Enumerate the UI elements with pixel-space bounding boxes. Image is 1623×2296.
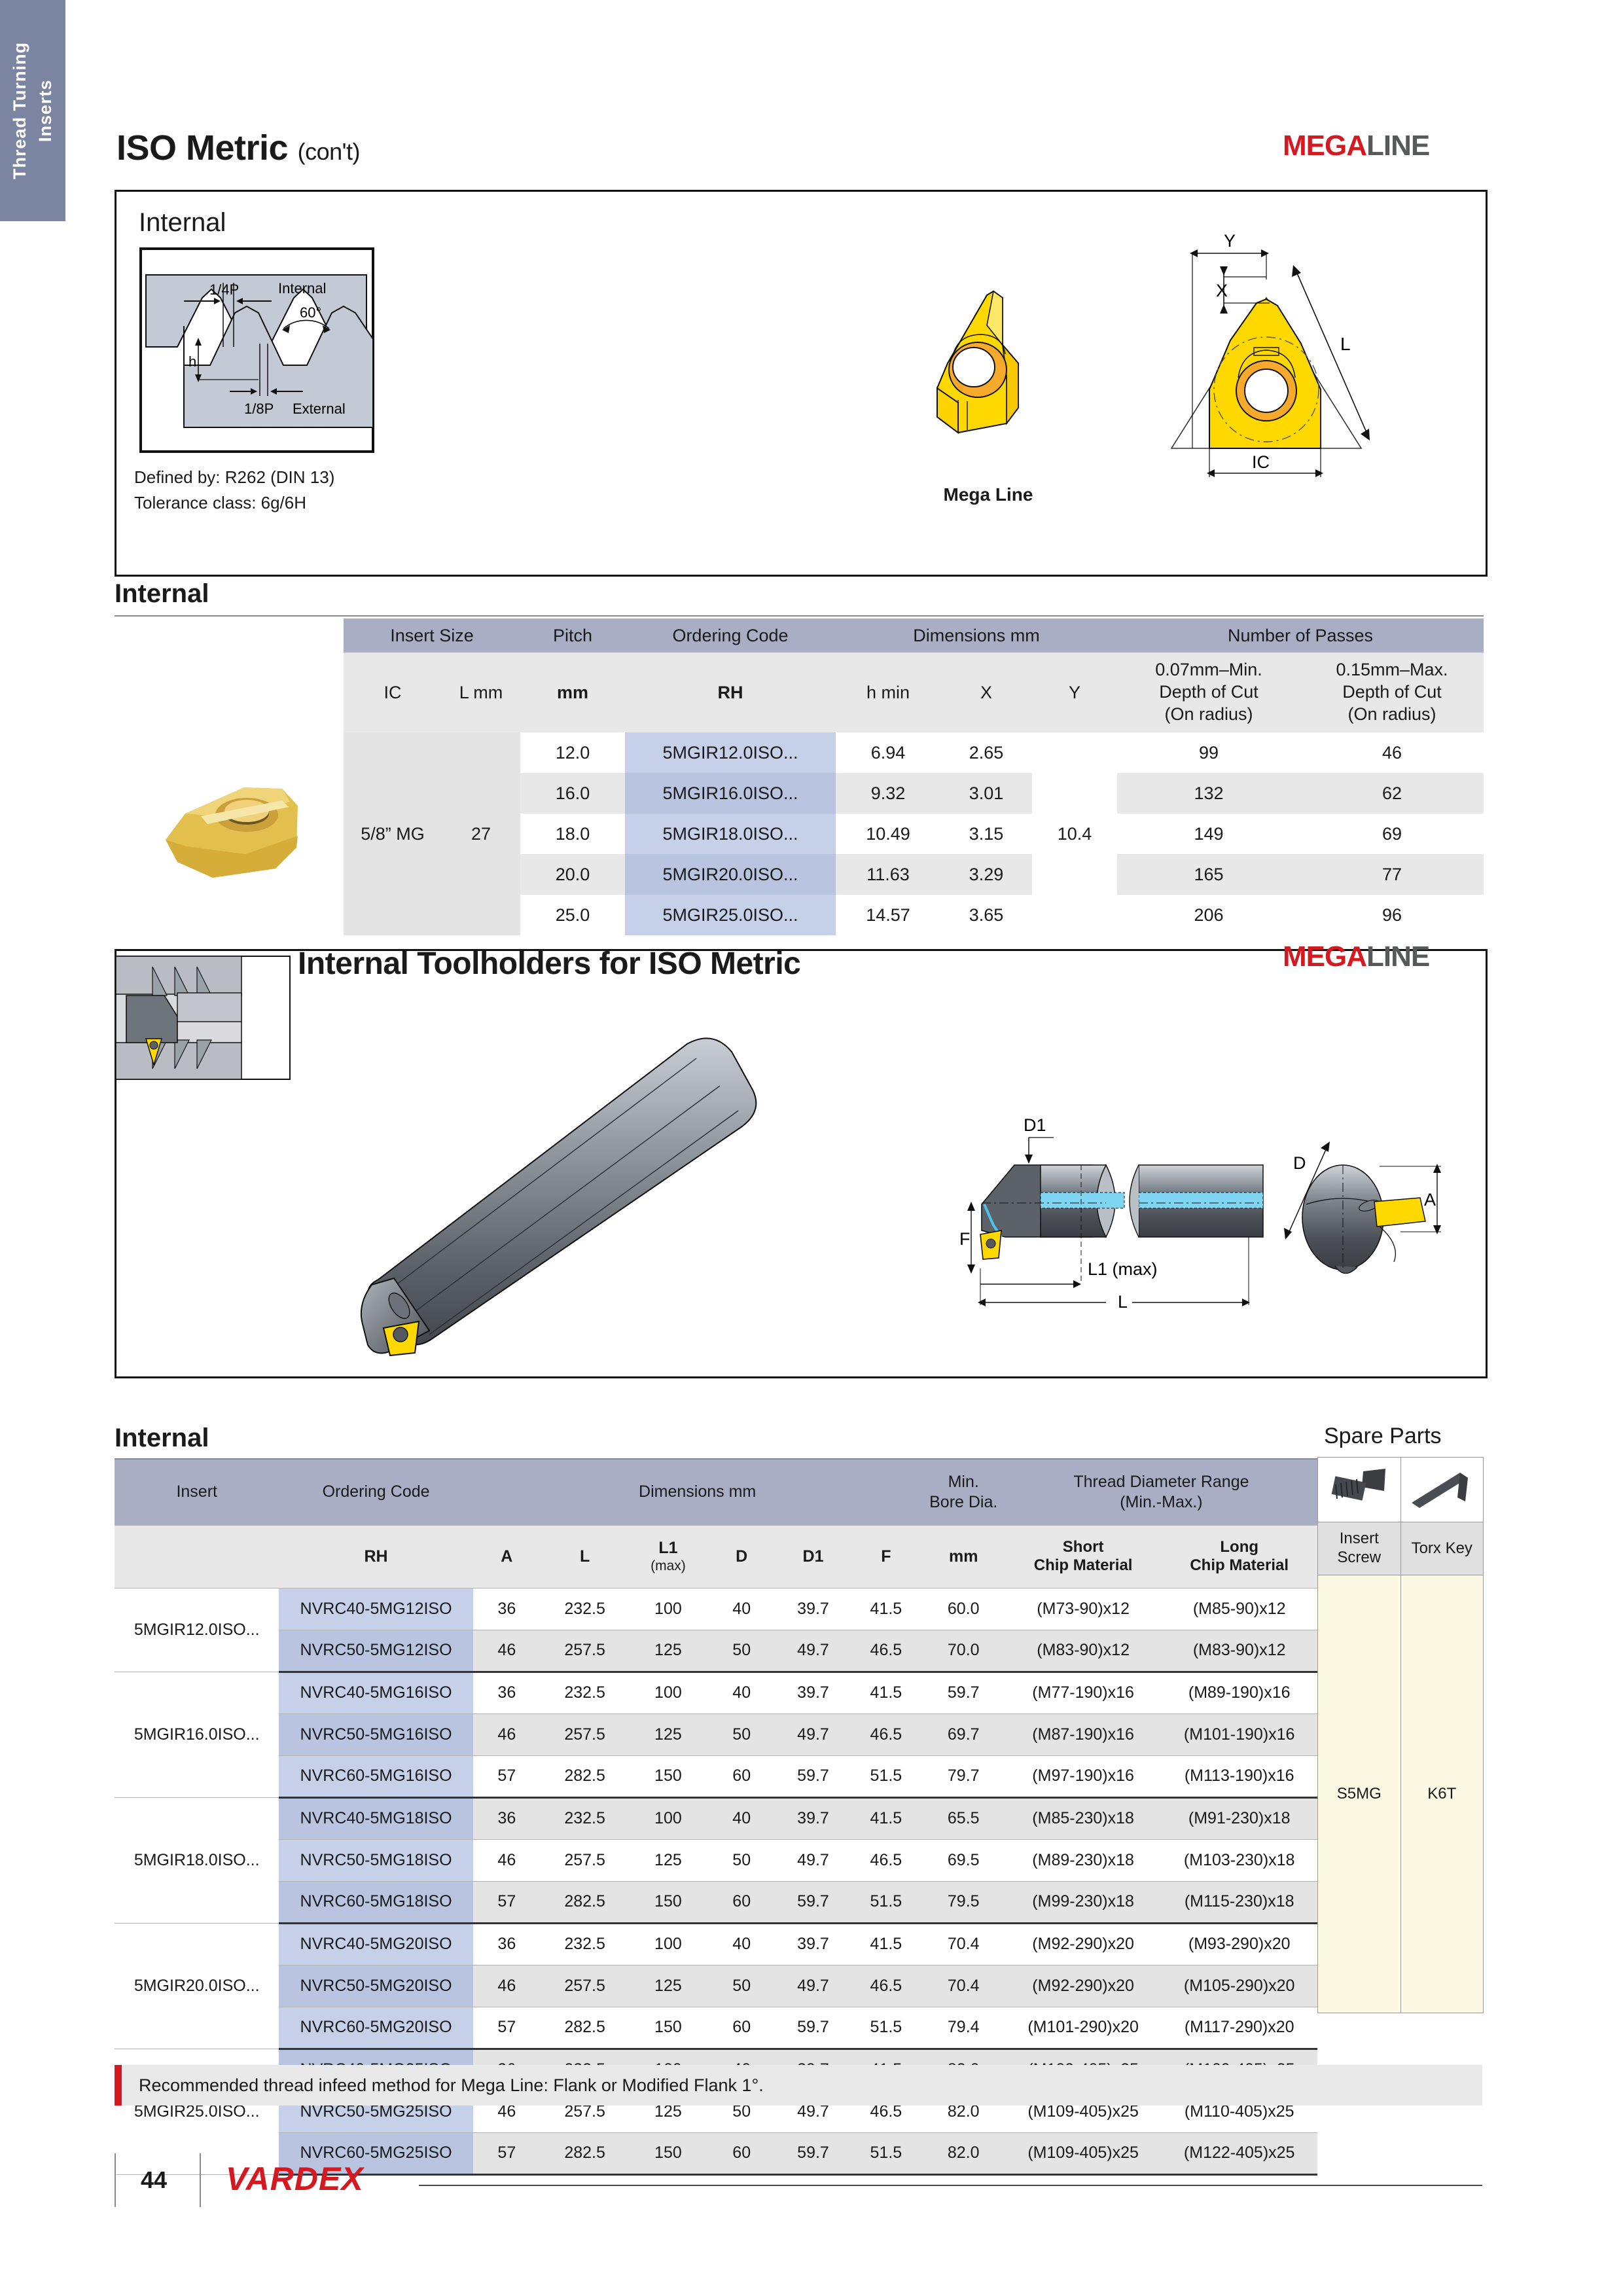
holder-cell-mm: 79.5	[922, 1881, 1005, 1923]
holder-table-row: 5MGIR12.0ISO...NVRC40-5MG12ISO36232.5100…	[115, 1588, 1317, 1630]
holder-cell-f: 41.5	[850, 1923, 921, 1965]
holder-cell-mm: 82.0	[922, 2132, 1005, 2174]
insert-cell-passes-max: 96	[1300, 895, 1484, 935]
holder-cell-f: 41.5	[850, 1797, 921, 1839]
footer-line	[419, 2185, 1482, 2186]
holder-cell-mm: 70.4	[922, 1923, 1005, 1965]
insert-table-sub-header-row: IC L mm mm RH h min X Y 0.07mm–Min. Dept…	[344, 653, 1484, 732]
holder-cell-l1: 150	[629, 1881, 707, 1923]
holder-cell-short-chip: (M77-190)x16	[1005, 1672, 1162, 1713]
megaline-logo-top: MEGALINE	[1283, 130, 1429, 162]
holder-cell-d1: 49.7	[776, 1965, 850, 2007]
page-title: ISO Metric (con't)	[116, 128, 360, 168]
dim-label-x: X	[1216, 281, 1228, 300]
holder-cell-l1: 100	[629, 1923, 707, 1965]
holder-cell-insert: 5MGIR20.0ISO...	[115, 1923, 279, 2049]
holder-cell-d1: 49.7	[776, 1630, 850, 1672]
thread-label-h: h	[188, 353, 196, 370]
holder-cell-f: 51.5	[850, 1881, 921, 1923]
insert-cell-passes-max: 77	[1300, 854, 1484, 895]
insert-table-row: 5/8” MG2712.05MGIR12.0ISO...6.942.6510.4…	[344, 732, 1484, 773]
dim-label-l1max: L1 (max)	[1088, 1259, 1158, 1279]
holder-cell-insert: 5MGIR16.0ISO...	[115, 1672, 279, 1797]
insert-th-x: X	[940, 653, 1032, 732]
holder-cell-d: 60	[707, 1881, 776, 1923]
insert-dimension-drawing: Y X L IC	[1132, 226, 1440, 488]
insert-cell-code[interactable]: 5MGIR25.0ISO...	[625, 895, 836, 935]
holder-th-f: F	[850, 1525, 921, 1588]
holder-th-l1-main: L1	[658, 1539, 677, 1557]
insert-cell-passes-min: 165	[1117, 854, 1300, 895]
insert-cell-hmin: 6.94	[836, 732, 940, 773]
holder-th-a: A	[473, 1525, 541, 1588]
spare-parts-table: Insert Screw Torx Key S5MG K6T	[1317, 1457, 1484, 2013]
screw-icon	[1323, 1462, 1396, 1513]
holder-cell-d1: 59.7	[776, 1881, 850, 1923]
insert-cell-x: 3.15	[940, 814, 1032, 854]
holder-cell-d: 60	[707, 1755, 776, 1797]
holder-cell-code[interactable]: NVRC40-5MG16ISO	[279, 1672, 473, 1713]
holder-cell-a: 36	[473, 1672, 541, 1713]
holder-group-header-row: Insert Ordering Code Dimensions mm Min. …	[115, 1460, 1317, 1525]
holder-cell-l: 232.5	[541, 1588, 629, 1630]
dim-label-d1: D1	[1024, 1115, 1046, 1135]
holder-cell-mm: 79.4	[922, 2007, 1005, 2049]
holder-cell-short-chip: (M92-290)x20	[1005, 1965, 1162, 2007]
holder-th-l1-sub: (max)	[651, 1558, 686, 1573]
insert-th-dimensions: Dimensions mm	[836, 619, 1117, 653]
holder-cell-short-chip: (M73-90)x12	[1005, 1588, 1162, 1630]
holder-cell-code[interactable]: NVRC60-5MG18ISO	[279, 1881, 473, 1923]
holder-th-d: D	[707, 1525, 776, 1588]
holder-cell-f: 46.5	[850, 1839, 921, 1881]
insert-screw-icon-cell	[1318, 1458, 1401, 1522]
insert-screw-value: S5MG	[1318, 1575, 1401, 2013]
megaline-line-text-2: LINE	[1366, 941, 1429, 973]
holder-cell-a: 46	[473, 1839, 541, 1881]
holder-cell-d: 50	[707, 1839, 776, 1881]
holder-cell-l: 232.5	[541, 1797, 629, 1839]
insert-th-passes-min: 0.07mm–Min. Depth of Cut (On radius)	[1117, 653, 1300, 732]
holder-cell-mm: 69.7	[922, 1713, 1005, 1755]
section-tab: Thread Turning Inserts	[0, 0, 65, 221]
insert-th-rh: RH	[625, 653, 836, 732]
holder-table-heading: Internal	[115, 1424, 209, 1453]
thread-standard-text: Defined by: R262 (DIN 13) Tolerance clas…	[134, 465, 334, 516]
holder-cell-f: 46.5	[850, 1630, 921, 1672]
insert-th-number-of-passes: Number of Passes	[1117, 619, 1484, 653]
holder-cell-short-chip: (M89-230)x18	[1005, 1839, 1162, 1881]
megaline-mega-text: MEGA	[1283, 130, 1366, 162]
torx-key-icon	[1405, 1462, 1478, 1513]
holder-cell-d1: 59.7	[776, 2007, 850, 2049]
holder-cell-d: 40	[707, 1797, 776, 1839]
insert-cell-x: 3.01	[940, 773, 1032, 814]
internal-figure-heading: Internal	[139, 208, 226, 238]
holder-cell-short-chip: (M92-290)x20	[1005, 1923, 1162, 1965]
holder-cell-d1: 49.7	[776, 1713, 850, 1755]
insert-cell-passes-min: 206	[1117, 895, 1300, 935]
thread-label-external: External	[293, 401, 346, 417]
holder-cell-l: 282.5	[541, 2007, 629, 2049]
holder-cell-d1: 39.7	[776, 1588, 850, 1630]
vardex-logo: VARDEX	[226, 2160, 364, 2198]
defined-by-text: Defined by: R262 (DIN 13)	[134, 465, 334, 490]
holder-cell-insert: 5MGIR12.0ISO...	[115, 1588, 279, 1672]
holder-cell-d1: 39.7	[776, 1923, 850, 1965]
holder-cell-a: 36	[473, 1797, 541, 1839]
holder-cell-d1: 59.7	[776, 1755, 850, 1797]
insert-cell-x: 2.65	[940, 732, 1032, 773]
holder-cell-f: 46.5	[850, 1965, 921, 2007]
holder-cell-short-chip: (M99-230)x18	[1005, 1881, 1162, 1923]
holder-cell-l1: 125	[629, 1713, 707, 1755]
insert-cell-hmin: 10.49	[836, 814, 940, 854]
holder-cell-a: 36	[473, 1588, 541, 1630]
holder-cell-d: 60	[707, 2132, 776, 2174]
holder-cell-long-chip: (M105-290)x20	[1161, 1965, 1317, 2007]
thread-profile-diagram: 1/4P Internal 60° h 1/8P External	[139, 247, 374, 453]
holder-cell-l: 282.5	[541, 2132, 629, 2174]
insert-screw-label: Insert Screw	[1318, 1522, 1401, 1575]
insert-cell-ic: 5/8” MG	[344, 732, 442, 935]
holder-cell-code[interactable]: NVRC50-5MG16ISO	[279, 1713, 473, 1755]
holder-table-row: NVRC50-5MG20ISO46257.51255049.746.570.4(…	[115, 1965, 1317, 2007]
torx-key-label: Torx Key	[1400, 1522, 1484, 1575]
holder-cell-a: 57	[473, 2132, 541, 2174]
holder-th-insert: Insert	[115, 1460, 279, 1525]
holder-cell-short-chip: (M83-90)x12	[1005, 1630, 1162, 1672]
insert-product-photo	[147, 762, 337, 926]
holder-cell-mm: 70.4	[922, 1965, 1005, 2007]
insert-cell-passes-max: 62	[1300, 773, 1484, 814]
holder-cell-d1: 59.7	[776, 2132, 850, 2174]
holder-cell-long-chip: (M113-190)x16	[1161, 1755, 1317, 1797]
holder-cell-long-chip: (M93-290)x20	[1161, 1923, 1317, 1965]
holder-cell-a: 46	[473, 1630, 541, 1672]
holder-cell-l1: 150	[629, 2132, 707, 2174]
holder-cell-long-chip: (M89-190)x16	[1161, 1672, 1317, 1713]
holder-cell-l: 257.5	[541, 1839, 629, 1881]
holder-cell-l1: 125	[629, 1965, 707, 2007]
holder-cell-d: 50	[707, 1630, 776, 1672]
holder-cell-a: 46	[473, 1965, 541, 2007]
insert-cell-pitch: 16.0	[520, 773, 625, 814]
holder-th-blank	[115, 1525, 279, 1588]
holder-cell-long-chip: (M83-90)x12	[1161, 1630, 1317, 1672]
insert-cell-code[interactable]: 5MGIR20.0ISO...	[625, 854, 836, 895]
megaline-mega-text-2: MEGA	[1283, 941, 1366, 973]
spare-parts-block: Spare Parts	[1317, 1424, 1484, 2013]
page-title-suffix: (con't)	[298, 138, 360, 165]
holder-cell-f: 46.5	[850, 1713, 921, 1755]
holder-cell-long-chip: (M103-230)x18	[1161, 1839, 1317, 1881]
holder-cell-d1: 39.7	[776, 1797, 850, 1839]
recommendation-note: Recommended thread infeed method for Meg…	[115, 2065, 1482, 2106]
holder-cell-code[interactable]: NVRC40-5MG18ISO	[279, 1797, 473, 1839]
holder-table-row: NVRC50-5MG16ISO46257.51255049.746.569.7(…	[115, 1713, 1317, 1755]
holder-th-rh: RH	[279, 1525, 473, 1588]
holder-cell-mm: 65.5	[922, 1797, 1005, 1839]
boring-bar-thumbnail	[115, 952, 291, 1083]
holder-cell-d: 50	[707, 1965, 776, 2007]
holder-cell-l1: 100	[629, 1797, 707, 1839]
holder-cell-f: 51.5	[850, 2132, 921, 2174]
holder-cell-f: 41.5	[850, 1588, 921, 1630]
holder-cell-f: 41.5	[850, 1672, 921, 1713]
dim-label-f: F	[959, 1229, 971, 1249]
holder-table-row: NVRC50-5MG12ISO46257.51255049.746.570.0(…	[115, 1630, 1317, 1672]
holder-cell-f: 51.5	[850, 1755, 921, 1797]
thread-label-eighth-p: 1/8P	[244, 401, 274, 417]
holder-cell-long-chip: (M91-230)x18	[1161, 1797, 1317, 1839]
holder-cell-code[interactable]: NVRC60-5MG20ISO	[279, 2007, 473, 2049]
note-text: Recommended thread infeed method for Meg…	[139, 2075, 764, 2096]
holder-cell-f: 51.5	[850, 2007, 921, 2049]
holder-cell-short-chip: (M109-405)x25	[1005, 2132, 1162, 2174]
holder-th-l: L	[541, 1525, 629, 1588]
insert-cell-passes-max: 46	[1300, 732, 1484, 773]
insert-cell-pitch: 12.0	[520, 732, 625, 773]
footer-divider-right	[200, 2153, 201, 2207]
thread-label-quarter-p: 1/4P	[209, 281, 239, 298]
note-accent-bar	[115, 2065, 122, 2106]
holder-cell-d1: 39.7	[776, 1672, 850, 1713]
holder-table-row: NVRC50-5MG18ISO46257.51255049.746.569.5(…	[115, 1839, 1317, 1881]
holder-cell-d: 40	[707, 1588, 776, 1630]
insert-cell-passes-min: 99	[1117, 732, 1300, 773]
dim-label-l-holder: L	[1118, 1292, 1128, 1312]
dim-label-y: Y	[1224, 231, 1236, 251]
insert-table-heading: Internal	[115, 579, 209, 609]
holder-cell-long-chip: (M115-230)x18	[1161, 1881, 1317, 1923]
holder-cell-a: 46	[473, 1713, 541, 1755]
holder-th-thread-range: Thread Diameter Range (Min.-Max.)	[1005, 1460, 1317, 1525]
holder-cell-short-chip: (M85-230)x18	[1005, 1797, 1162, 1839]
holder-cell-long-chip: (M85-90)x12	[1161, 1588, 1317, 1630]
insert-th-ordering-code: Ordering Code	[625, 619, 836, 653]
holder-th-min-bore: Min. Bore Dia.	[922, 1460, 1005, 1525]
insert-th-y: Y	[1032, 653, 1117, 732]
holder-cell-short-chip: (M101-290)x20	[1005, 2007, 1162, 2049]
holder-cell-insert: 5MGIR18.0ISO...	[115, 1797, 279, 1923]
insert-cell-hmin: 11.63	[836, 854, 940, 895]
holder-th-l1: L1 (max)	[629, 1525, 707, 1588]
spare-parts-title: Spare Parts	[1317, 1424, 1484, 1449]
insert-cell-code[interactable]: 5MGIR16.0ISO...	[625, 773, 836, 814]
holder-table-row: NVRC60-5MG16ISO57282.51506059.751.579.7(…	[115, 1755, 1317, 1797]
insert-cell-code[interactable]: 5MGIR12.0ISO...	[625, 732, 836, 773]
holder-table-row: 5MGIR20.0ISO...NVRC40-5MG20ISO36232.5100…	[115, 1923, 1317, 1965]
torx-key-value: K6T	[1400, 1575, 1484, 2013]
megaline-logo-bottom: MEGALINE	[1283, 941, 1429, 973]
page-number: 44	[141, 2166, 167, 2194]
holder-cell-a: 36	[473, 1923, 541, 1965]
megaline-line-text: LINE	[1366, 130, 1429, 162]
holder-cell-mm: 59.7	[922, 1672, 1005, 1713]
holder-cell-l1: 100	[629, 1588, 707, 1630]
insert-th-lmm: L mm	[442, 653, 520, 732]
holder-cell-l1: 125	[629, 1839, 707, 1881]
insert-cell-hmin: 9.32	[836, 773, 940, 814]
holder-cell-l1: 150	[629, 2007, 707, 2049]
insert-th-ic: IC	[344, 653, 442, 732]
insert-cell-passes-max: 69	[1300, 814, 1484, 854]
holder-cell-code[interactable]: NVRC50-5MG12ISO	[279, 1630, 473, 1672]
insert-th-mm: mm	[520, 653, 625, 732]
dim-label-ic: IC	[1252, 452, 1270, 472]
footer-divider-left	[115, 2153, 116, 2207]
holder-cell-l1: 150	[629, 1755, 707, 1797]
holder-cell-d: 40	[707, 1672, 776, 1713]
holder-cell-d: 40	[707, 1923, 776, 1965]
holder-cell-short-chip: (M97-190)x16	[1005, 1755, 1162, 1797]
holder-cell-d1: 49.7	[776, 1839, 850, 1881]
tolerance-class-text: Tolerance class: 6g/6H	[134, 490, 334, 516]
holder-table-row: NVRC60-5MG20ISO57282.51506059.751.579.4(…	[115, 2007, 1317, 2049]
holder-th-long-chip: Long Chip Material	[1161, 1525, 1317, 1588]
holder-cell-a: 57	[473, 2007, 541, 2049]
holder-cell-mm: 79.7	[922, 1755, 1005, 1797]
torx-key-icon-cell	[1400, 1458, 1484, 1522]
holder-th-mm: mm	[922, 1525, 1005, 1588]
holder-cell-a: 57	[473, 1881, 541, 1923]
holder-th-d1: D1	[776, 1525, 850, 1588]
holder-th-short-chip: Short Chip Material	[1005, 1525, 1162, 1588]
holder-cell-l1: 100	[629, 1672, 707, 1713]
insert-cell-passes-min: 132	[1117, 773, 1300, 814]
insert-th-pitch: Pitch	[520, 619, 625, 653]
insert-cell-code[interactable]: 5MGIR18.0ISO...	[625, 814, 836, 854]
insert-th-hmin: h min	[836, 653, 940, 732]
holder-cell-l: 282.5	[541, 1881, 629, 1923]
holder-cell-long-chip: (M101-190)x16	[1161, 1713, 1317, 1755]
holder-cell-code[interactable]: NVRC50-5MG18ISO	[279, 1839, 473, 1881]
insert-th-insert-size: Insert Size	[344, 619, 520, 653]
dim-label-l: L	[1340, 334, 1351, 354]
thread-label-angle: 60°	[300, 304, 321, 321]
holder-cell-l: 257.5	[541, 1965, 629, 2007]
holder-sub-header-row: RH A L L1 (max) D D1 F mm Short Chip Mat…	[115, 1525, 1317, 1588]
page-title-main: ISO Metric	[116, 128, 288, 168]
holder-cell-d: 50	[707, 1713, 776, 1755]
holder-cell-mm: 69.5	[922, 1839, 1005, 1881]
holder-cell-a: 57	[473, 1755, 541, 1797]
holder-table-row: 5MGIR18.0ISO...NVRC40-5MG18ISO36232.5100…	[115, 1797, 1317, 1839]
holder-cell-mm: 70.0	[922, 1630, 1005, 1672]
holder-th-dimensions: Dimensions mm	[473, 1460, 922, 1525]
holder-th-ordering-code: Ordering Code	[279, 1460, 473, 1525]
holder-cell-l: 232.5	[541, 1923, 629, 1965]
insert-cell-x: 3.65	[940, 895, 1032, 935]
dim-label-a: A	[1424, 1190, 1436, 1210]
holder-table-row: 5MGIR16.0ISO...NVRC40-5MG16ISO36232.5100…	[115, 1672, 1317, 1713]
dim-label-d-holder: D	[1293, 1153, 1306, 1173]
mega-line-insert-3d	[890, 272, 1086, 481]
insert-cell-hmin: 14.57	[836, 895, 940, 935]
holder-cell-long-chip: (M122-405)x25	[1161, 2132, 1317, 2174]
insert-table-rule	[115, 615, 1484, 617]
insert-cell-pitch: 25.0	[520, 895, 625, 935]
holder-cell-l: 257.5	[541, 1630, 629, 1672]
insert-cell-x: 3.29	[940, 854, 1032, 895]
insert-cell-lmm: 27	[442, 732, 520, 935]
insert-cell-y: 10.4	[1032, 732, 1117, 935]
holder-cell-l1: 125	[629, 1630, 707, 1672]
holder-cell-l: 232.5	[541, 1672, 629, 1713]
holder-table-row: NVRC60-5MG18ISO57282.51506059.751.579.5(…	[115, 1881, 1317, 1923]
thread-label-internal: Internal	[278, 280, 326, 296]
holder-cell-code[interactable]: NVRC50-5MG20ISO	[279, 1965, 473, 2007]
holder-cell-code[interactable]: NVRC40-5MG20ISO	[279, 1923, 473, 1965]
mega-line-caption: Mega Line	[893, 484, 1083, 505]
section-tab-label: Thread Turning Inserts	[7, 42, 58, 179]
insert-cell-pitch: 20.0	[520, 854, 625, 895]
holder-cell-d: 60	[707, 2007, 776, 2049]
holder-cell-long-chip: (M117-290)x20	[1161, 2007, 1317, 2049]
holder-cell-l: 282.5	[541, 1755, 629, 1797]
insert-th-passes-max: 0.15mm–Max. Depth of Cut (On radius)	[1300, 653, 1484, 732]
toolholder-3d-illustration	[294, 1018, 825, 1358]
insert-table-group-header-row: Insert Size Pitch Ordering Code Dimensio…	[344, 619, 1484, 653]
holder-cell-code[interactable]: NVRC40-5MG12ISO	[279, 1588, 473, 1630]
holder-cell-short-chip: (M87-190)x16	[1005, 1713, 1162, 1755]
holder-cell-l: 257.5	[541, 1713, 629, 1755]
insert-cell-pitch: 18.0	[520, 814, 625, 854]
insert-data-table: Insert Size Pitch Ordering Code Dimensio…	[344, 619, 1484, 935]
holder-cell-mm: 60.0	[922, 1588, 1005, 1630]
insert-cell-passes-min: 149	[1117, 814, 1300, 854]
toolholder-dimension-drawings: D1 F L1 (max) L D A	[942, 1106, 1466, 1322]
toolholder-section-title: Internal Toolholders for ISO Metric	[298, 946, 800, 982]
holder-cell-code[interactable]: NVRC60-5MG16ISO	[279, 1755, 473, 1797]
